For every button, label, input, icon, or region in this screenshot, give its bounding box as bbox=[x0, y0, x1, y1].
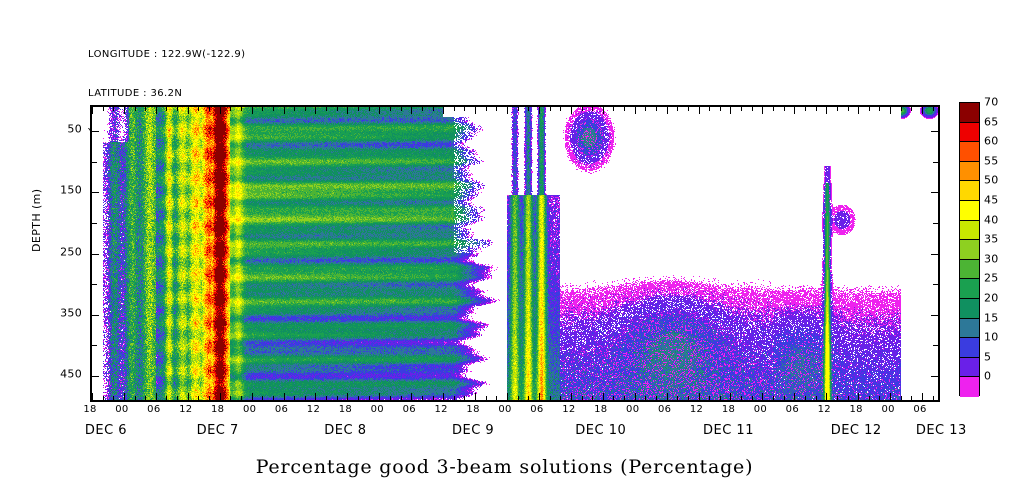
y-axis-label: 50 bbox=[42, 123, 82, 136]
x-tick bbox=[720, 396, 721, 401]
x-axis-hour-label: 00 bbox=[115, 404, 128, 415]
colorbar-label: 55 bbox=[984, 154, 999, 167]
x-tick bbox=[890, 393, 891, 401]
x-tick bbox=[390, 106, 391, 111]
x-tick bbox=[262, 396, 263, 401]
x-tick bbox=[752, 106, 753, 111]
x-tick bbox=[433, 396, 434, 401]
x-tick bbox=[582, 106, 583, 111]
x-tick bbox=[358, 396, 359, 401]
colorbar-band bbox=[960, 299, 979, 319]
x-tick bbox=[166, 106, 167, 111]
y-tick bbox=[91, 192, 99, 193]
x-tick bbox=[401, 106, 402, 111]
colorbar-band bbox=[960, 123, 979, 143]
x-tick bbox=[773, 396, 774, 401]
x-tick bbox=[730, 106, 731, 114]
x-tick bbox=[347, 393, 348, 401]
colorbar-band bbox=[960, 181, 979, 201]
colorbar-band bbox=[960, 358, 979, 378]
x-axis-hour-label: 18 bbox=[466, 404, 479, 415]
x-tick bbox=[762, 106, 763, 114]
x-tick bbox=[869, 396, 870, 401]
x-tick bbox=[762, 393, 763, 401]
x-tick bbox=[848, 106, 849, 111]
colorbar-label: 10 bbox=[984, 331, 999, 344]
x-tick bbox=[305, 396, 306, 401]
colorbar-band bbox=[960, 201, 979, 221]
x-tick bbox=[337, 106, 338, 111]
x-tick bbox=[677, 106, 678, 111]
x-tick bbox=[688, 396, 689, 401]
x-tick bbox=[582, 396, 583, 401]
x-axis-hour-label: 00 bbox=[754, 404, 767, 415]
x-axis-hour-label: 18 bbox=[339, 404, 352, 415]
x-tick bbox=[922, 106, 923, 114]
x-tick bbox=[592, 106, 593, 111]
x-tick bbox=[922, 393, 923, 401]
x-axis-day-label: DEC 6 bbox=[85, 423, 127, 438]
x-tick bbox=[571, 106, 572, 114]
x-tick bbox=[826, 393, 827, 401]
colorbar-band bbox=[960, 260, 979, 280]
x-tick bbox=[709, 106, 710, 111]
x-axis-day-label: DEC 11 bbox=[703, 423, 754, 438]
y-tick bbox=[933, 162, 939, 163]
y-tick bbox=[931, 254, 939, 255]
x-axis-hour-label: 06 bbox=[530, 404, 543, 415]
x-tick bbox=[326, 106, 327, 111]
x-tick bbox=[305, 106, 306, 111]
x-tick bbox=[645, 396, 646, 401]
x-tick bbox=[241, 396, 242, 401]
x-tick bbox=[699, 393, 700, 401]
x-tick bbox=[252, 393, 253, 401]
x-axis-hour-label: 12 bbox=[562, 404, 575, 415]
x-axis-day-label: DEC 12 bbox=[831, 423, 882, 438]
x-tick bbox=[103, 106, 104, 111]
x-tick bbox=[113, 396, 114, 401]
y-axis-label: 150 bbox=[42, 184, 82, 197]
heatmap-canvas bbox=[92, 107, 938, 400]
x-tick bbox=[209, 106, 210, 111]
longitude-text: LONGITUDE : 122.9W(-122.9) bbox=[88, 48, 245, 61]
y-axis-label: 250 bbox=[42, 245, 82, 258]
y-axis-title: DEPTH (m) bbox=[30, 189, 43, 252]
x-tick bbox=[390, 396, 391, 401]
x-tick bbox=[443, 106, 444, 114]
x-tick bbox=[284, 393, 285, 401]
x-tick bbox=[156, 106, 157, 114]
x-tick bbox=[603, 106, 604, 114]
x-tick bbox=[911, 396, 912, 401]
x-tick bbox=[433, 106, 434, 111]
x-tick bbox=[901, 106, 902, 111]
y-tick bbox=[933, 284, 939, 285]
colorbar-label: 70 bbox=[984, 96, 999, 109]
x-axis-hour-label: 18 bbox=[850, 404, 863, 415]
x-axis-hour-label: 06 bbox=[147, 404, 160, 415]
colorbar-label: 20 bbox=[984, 292, 999, 305]
x-axis-hour-label: 06 bbox=[403, 404, 416, 415]
x-tick bbox=[358, 106, 359, 111]
x-tick bbox=[730, 393, 731, 401]
figure-title: Percentage good 3-beam solutions (Percen… bbox=[0, 456, 1009, 478]
x-tick bbox=[220, 106, 221, 114]
x-tick bbox=[528, 396, 529, 401]
x-tick bbox=[592, 396, 593, 401]
colorbar-band bbox=[960, 103, 979, 123]
x-tick bbox=[284, 106, 285, 114]
figure-root: LONGITUDE : 122.9W(-122.9) LATITUDE : 36… bbox=[0, 0, 1009, 504]
x-axis-hour-label: 00 bbox=[371, 404, 384, 415]
x-tick bbox=[784, 106, 785, 111]
colorbar-band bbox=[960, 221, 979, 241]
x-tick bbox=[879, 396, 880, 401]
x-tick bbox=[656, 396, 657, 401]
y-tick bbox=[91, 131, 99, 132]
x-tick bbox=[230, 396, 231, 401]
x-tick bbox=[550, 106, 551, 111]
x-tick bbox=[230, 106, 231, 111]
x-tick bbox=[550, 396, 551, 401]
x-tick bbox=[752, 396, 753, 401]
y-tick bbox=[933, 345, 939, 346]
x-tick bbox=[135, 106, 136, 111]
x-tick bbox=[496, 106, 497, 111]
x-tick bbox=[486, 396, 487, 401]
x-tick bbox=[337, 396, 338, 401]
x-axis-hour-label: 06 bbox=[275, 404, 288, 415]
x-tick bbox=[667, 393, 668, 401]
x-tick bbox=[262, 106, 263, 111]
x-axis-day-label: DEC 8 bbox=[324, 423, 366, 438]
x-tick bbox=[794, 393, 795, 401]
x-tick bbox=[475, 393, 476, 401]
x-tick bbox=[667, 106, 668, 114]
y-tick bbox=[931, 315, 939, 316]
x-tick bbox=[273, 106, 274, 111]
x-axis-hour-label: 00 bbox=[626, 404, 639, 415]
x-tick bbox=[848, 396, 849, 401]
colorbar-label: 25 bbox=[984, 272, 999, 285]
colorbar-band bbox=[960, 279, 979, 299]
x-tick bbox=[92, 106, 93, 114]
x-axis-day-label: DEC 13 bbox=[916, 423, 967, 438]
x-tick bbox=[837, 396, 838, 401]
x-axis-hour-label: 12 bbox=[690, 404, 703, 415]
colorbar-band bbox=[960, 162, 979, 182]
x-tick bbox=[794, 106, 795, 114]
x-tick bbox=[518, 396, 519, 401]
x-tick bbox=[624, 106, 625, 111]
colorbar-band bbox=[960, 377, 979, 397]
x-tick bbox=[475, 106, 476, 114]
x-tick bbox=[539, 393, 540, 401]
x-axis-hour-label: 12 bbox=[307, 404, 320, 415]
y-tick bbox=[91, 223, 97, 224]
x-tick bbox=[773, 106, 774, 111]
x-axis-day-label: DEC 7 bbox=[197, 423, 239, 438]
x-tick bbox=[188, 393, 189, 401]
x-axis-hour-label: 12 bbox=[434, 404, 447, 415]
x-axis-hour-label: 18 bbox=[211, 404, 224, 415]
x-axis-hour-label: 12 bbox=[818, 404, 831, 415]
x-tick bbox=[369, 396, 370, 401]
x-tick bbox=[347, 106, 348, 114]
x-tick bbox=[486, 106, 487, 111]
x-tick bbox=[145, 396, 146, 401]
y-tick bbox=[931, 131, 939, 132]
x-tick bbox=[784, 396, 785, 401]
x-tick bbox=[933, 396, 934, 401]
y-tick bbox=[91, 315, 99, 316]
x-tick bbox=[454, 106, 455, 111]
heatmap-canvas-wrap bbox=[92, 107, 938, 400]
x-tick bbox=[145, 106, 146, 111]
y-axis-label: 450 bbox=[42, 367, 82, 380]
x-tick bbox=[901, 396, 902, 401]
x-tick bbox=[571, 393, 572, 401]
colorbar-label: 30 bbox=[984, 252, 999, 265]
x-tick bbox=[124, 106, 125, 114]
x-axis-day-label: DEC 10 bbox=[575, 423, 626, 438]
x-tick bbox=[635, 393, 636, 401]
colorbar-label: 50 bbox=[984, 174, 999, 187]
x-tick bbox=[624, 396, 625, 401]
x-tick bbox=[869, 106, 870, 111]
x-tick bbox=[507, 393, 508, 401]
y-tick bbox=[91, 376, 99, 377]
x-tick bbox=[379, 106, 380, 114]
x-tick bbox=[198, 396, 199, 401]
x-tick bbox=[241, 106, 242, 111]
colorbar-label: 45 bbox=[984, 194, 999, 207]
x-tick bbox=[315, 106, 316, 114]
latitude-text: LATITUDE : 36.2N bbox=[88, 87, 245, 100]
x-tick bbox=[528, 106, 529, 111]
x-tick bbox=[464, 106, 465, 111]
x-axis-hour-label: 18 bbox=[83, 404, 96, 415]
x-tick bbox=[188, 106, 189, 114]
x-tick bbox=[837, 106, 838, 111]
y-axis-label: 350 bbox=[42, 306, 82, 319]
y-tick bbox=[91, 162, 97, 163]
x-tick bbox=[294, 106, 295, 111]
x-tick bbox=[166, 396, 167, 401]
x-axis-day-label: DEC 9 bbox=[452, 423, 494, 438]
x-tick bbox=[858, 106, 859, 114]
x-tick bbox=[273, 396, 274, 401]
x-tick bbox=[539, 106, 540, 114]
x-tick bbox=[177, 106, 178, 111]
plot-area bbox=[90, 105, 940, 402]
x-tick bbox=[741, 106, 742, 111]
y-tick bbox=[931, 376, 939, 377]
x-tick bbox=[422, 106, 423, 111]
x-tick bbox=[741, 396, 742, 401]
colorbar-band bbox=[960, 319, 979, 339]
x-tick bbox=[560, 396, 561, 401]
x-axis-hour-label: 18 bbox=[722, 404, 735, 415]
x-tick bbox=[326, 396, 327, 401]
x-tick bbox=[369, 106, 370, 111]
x-axis-hour-label: 00 bbox=[881, 404, 894, 415]
x-tick bbox=[135, 396, 136, 401]
x-tick bbox=[401, 396, 402, 401]
x-tick bbox=[603, 393, 604, 401]
x-axis-hour-label: 06 bbox=[913, 404, 926, 415]
y-tick bbox=[91, 284, 97, 285]
x-tick bbox=[454, 396, 455, 401]
colorbar-label: 5 bbox=[984, 350, 991, 363]
x-tick bbox=[422, 396, 423, 401]
x-tick bbox=[294, 396, 295, 401]
x-tick bbox=[443, 393, 444, 401]
x-tick bbox=[613, 396, 614, 401]
x-tick bbox=[209, 396, 210, 401]
x-tick bbox=[635, 106, 636, 114]
x-tick bbox=[656, 106, 657, 111]
x-axis-hour-label: 06 bbox=[658, 404, 671, 415]
x-tick bbox=[645, 106, 646, 111]
y-tick bbox=[933, 223, 939, 224]
x-tick bbox=[911, 106, 912, 111]
x-tick bbox=[709, 396, 710, 401]
x-tick bbox=[411, 106, 412, 114]
x-tick bbox=[113, 106, 114, 111]
colorbar-band bbox=[960, 240, 979, 260]
colorbar-label: 0 bbox=[984, 370, 991, 383]
x-tick bbox=[816, 106, 817, 111]
colorbar-label: 15 bbox=[984, 311, 999, 324]
x-tick bbox=[805, 396, 806, 401]
colorbar-label: 65 bbox=[984, 115, 999, 128]
y-tick bbox=[931, 192, 939, 193]
x-tick bbox=[518, 106, 519, 111]
x-tick bbox=[805, 106, 806, 111]
x-tick bbox=[826, 106, 827, 114]
y-tick bbox=[91, 254, 99, 255]
colorbar-label: 40 bbox=[984, 213, 999, 226]
x-tick bbox=[890, 106, 891, 114]
colorbar-label: 60 bbox=[984, 135, 999, 148]
x-tick bbox=[858, 393, 859, 401]
colorbar bbox=[959, 102, 980, 396]
x-tick bbox=[411, 393, 412, 401]
x-tick bbox=[124, 393, 125, 401]
x-tick bbox=[699, 106, 700, 114]
x-tick bbox=[560, 106, 561, 111]
x-tick bbox=[198, 106, 199, 111]
x-axis-hour-label: 06 bbox=[786, 404, 799, 415]
x-tick bbox=[103, 396, 104, 401]
x-tick bbox=[720, 106, 721, 111]
x-tick bbox=[613, 106, 614, 111]
x-tick bbox=[464, 396, 465, 401]
x-axis-hour-label: 12 bbox=[179, 404, 192, 415]
x-tick bbox=[315, 393, 316, 401]
colorbar-band bbox=[960, 338, 979, 358]
x-tick bbox=[379, 393, 380, 401]
x-tick bbox=[156, 393, 157, 401]
x-axis-hour-label: 00 bbox=[243, 404, 256, 415]
x-tick bbox=[252, 106, 253, 114]
x-tick bbox=[92, 393, 93, 401]
x-tick bbox=[677, 396, 678, 401]
colorbar-band bbox=[960, 142, 979, 162]
x-tick bbox=[933, 106, 934, 111]
x-tick bbox=[507, 106, 508, 114]
x-tick bbox=[220, 393, 221, 401]
x-tick bbox=[177, 396, 178, 401]
y-tick bbox=[91, 345, 97, 346]
x-tick bbox=[879, 106, 880, 111]
x-axis-hour-label: 00 bbox=[498, 404, 511, 415]
x-axis-hour-label: 18 bbox=[594, 404, 607, 415]
x-tick bbox=[688, 106, 689, 111]
colorbar-label: 35 bbox=[984, 233, 999, 246]
x-tick bbox=[496, 396, 497, 401]
x-tick bbox=[816, 396, 817, 401]
